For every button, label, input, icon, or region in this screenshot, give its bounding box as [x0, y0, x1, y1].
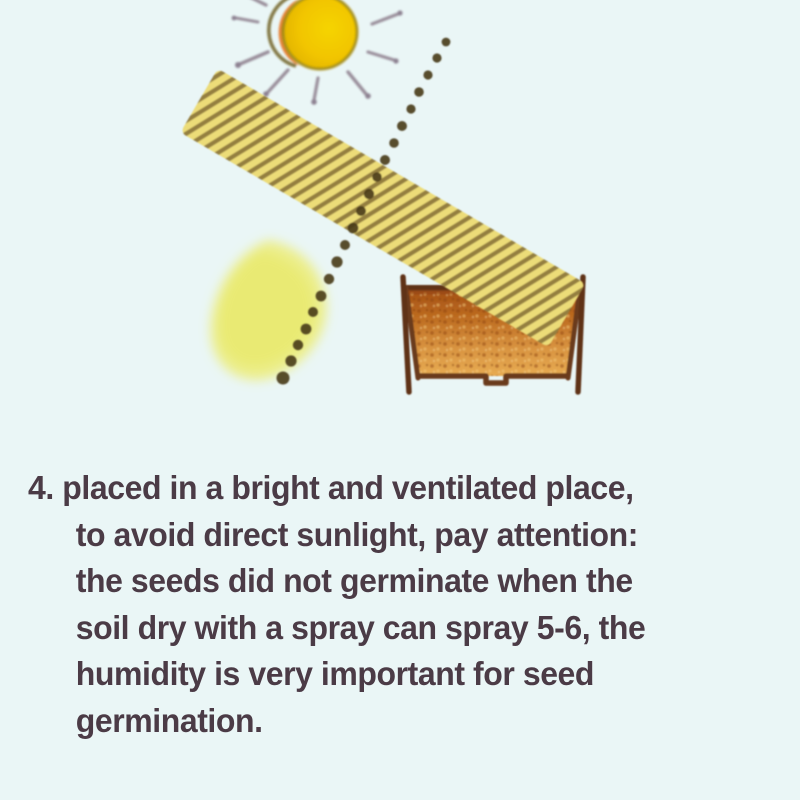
caption-line-6: germination. [28, 699, 750, 746]
sun-icon [232, 0, 403, 105]
page-root: 4. placed in a bright and ventilated pla… [0, 0, 800, 800]
caption-line-1: 4. placed in a bright and ventilated pla… [28, 466, 750, 513]
instruction-step-caption: 4. placed in a bright and ventilated pla… [28, 466, 784, 745]
caption-line-5: humidity is very important for seed [28, 652, 750, 699]
caption-line-3: the seeds did not germinate when the [28, 559, 750, 606]
caption-line-4: soil dry with a spray can spray 5-6, the [28, 606, 750, 653]
illustration-svg [0, 0, 800, 460]
illustration-area [0, 0, 800, 460]
caption-line-2: to avoid direct sunlight, pay attention: [28, 513, 750, 560]
